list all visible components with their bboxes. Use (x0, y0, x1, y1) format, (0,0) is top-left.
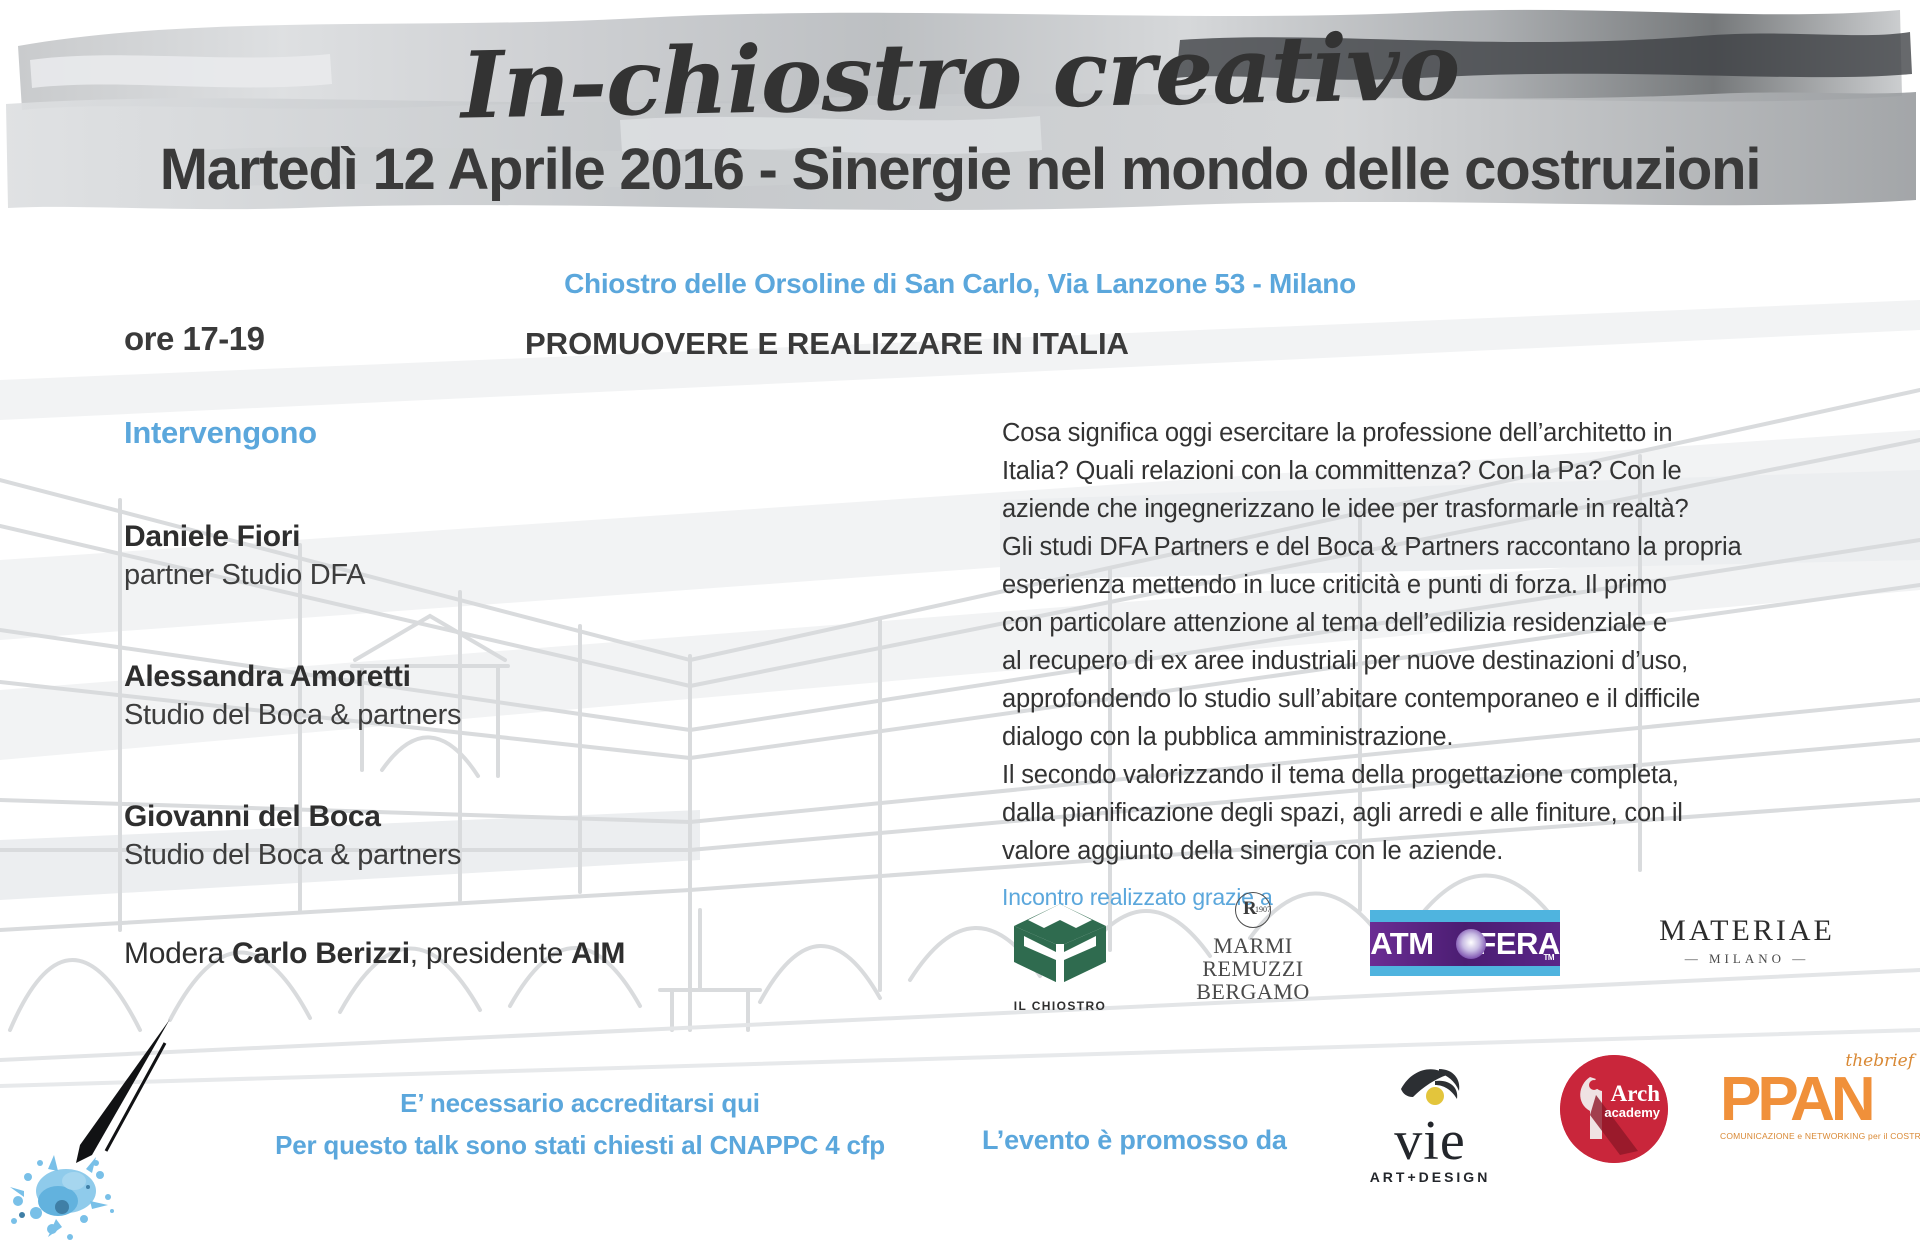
promoter-subline: COMUNICAZIONE e NETWORKING per il COSTRU… (1720, 1131, 1920, 1141)
promoted-by-label: L’evento è promosso da (982, 1125, 1287, 1156)
promoter-logo-vie[interactable]: vie ART+DESIGN (1350, 1063, 1510, 1185)
promoter-logo-row: vie ART+DESIGN Arch academy thebrief PPA… (1350, 1045, 1920, 1205)
description-line: approfondendo lo studio sull’abitare con… (1002, 680, 1842, 718)
promoter-line-1: Arch (1611, 1081, 1660, 1107)
r-roundel-icon: R 1907 (1235, 892, 1271, 928)
wordmark-left: ATM (1370, 926, 1433, 961)
moderator-line: Modera Carlo Berizzi, presidente AIM (124, 937, 844, 971)
promoter-line-2: academy (1604, 1105, 1660, 1120)
cube-icon (1000, 900, 1120, 992)
description-line: Il secondo valorizzando il tema della pr… (1002, 756, 1842, 794)
speaker-affiliation: Studio del Boca & partners (124, 836, 844, 875)
sponsor-logo-il-chiostro[interactable]: IL CHIOSTRO (1000, 900, 1120, 1013)
description-line: aziende che ingegnerizzano le idee per t… (1002, 490, 1842, 528)
speaker-affiliation: Studio del Boca & partners (124, 696, 844, 735)
description-line: Italia? Quali relazioni con la committen… (1002, 452, 1842, 490)
promoter-logo-arch-academy[interactable]: Arch academy (1560, 1055, 1668, 1163)
promoter-subline: ART+DESIGN (1350, 1169, 1510, 1185)
accreditation-block[interactable]: E’ necessario accreditarsi qui Per quest… (170, 1082, 990, 1166)
moderator-name: Carlo Berizzi (232, 937, 410, 970)
trademark-mark: TM (1543, 936, 1554, 980)
description-line: esperienza mettendo in luce criticità e … (1002, 566, 1842, 604)
promoter-wordmark: PPAN (1720, 1071, 1920, 1129)
speaker-entry: Daniele Fiori partner Studio DFA (124, 517, 844, 595)
speaker-name: Alessandra Amoretti (124, 657, 844, 696)
moderator-organisation: AIM (571, 937, 625, 970)
speakers-heading: Intervengono (124, 415, 844, 451)
description-line: valore aggiunto della sinergia con le az… (1002, 832, 1842, 870)
speaker-name: Giovanni del Boca (124, 797, 844, 836)
speaker-entry: Alessandra Amoretti Studio del Boca & pa… (124, 657, 844, 735)
poster-main-title: Martedì 12 Aprile 2016 - Sinergie nel mo… (0, 136, 1920, 203)
roundel-year: 1907 (1255, 905, 1271, 914)
sponsor-line-1: MARMI (1178, 934, 1328, 957)
sphere-icon (1456, 929, 1486, 959)
description-line: Gli studi DFA Partners e del Boca & Part… (1002, 528, 1842, 566)
speakers-panel: Intervengono Daniele Fiori partner Studi… (124, 415, 844, 971)
sponsor-logo-atmosfera[interactable]: ATMOSFERA TM (1370, 910, 1560, 976)
sponsor-logo-marmi-remuzzi[interactable]: R 1907 MARMI REMUZZI BERGAMO (1178, 892, 1328, 1003)
description-line: Cosa significa oggi esercitare la profes… (1002, 414, 1842, 452)
pen-nib-and-ink-splatter (0, 1005, 230, 1248)
leaf-ink-icon (1395, 1063, 1465, 1115)
description-body: Cosa significa oggi esercitare la profes… (1002, 414, 1842, 870)
moderator-middle: , presidente (410, 937, 571, 970)
description-line: dalla pianificazione degli spazi, agli a… (1002, 794, 1842, 832)
pen-nib-icon (76, 1019, 170, 1163)
speaker-name: Daniele Fiori (124, 517, 844, 556)
description-line: al recupero di ex aree industriali per n… (1002, 642, 1842, 680)
accreditation-line-2: Per questo talk sono stati chiesti al CN… (170, 1124, 990, 1166)
poster-venue: Chiostro delle Orsoline di San Carlo, Vi… (0, 268, 1920, 300)
sponsor-wordmark: MATERIAE (1632, 914, 1862, 948)
sponsor-line-2: REMUZZI (1178, 957, 1328, 980)
sponsor-caption: IL CHIOSTRO (1000, 999, 1120, 1013)
sponsor-line-3: BERGAMO (1178, 980, 1328, 1003)
moderator-prefix: Modera (124, 937, 232, 970)
sponsor-subline: — MILANO — (1632, 951, 1862, 967)
description-line: dialogo con la pubblica amministrazione. (1002, 718, 1842, 756)
sponsor-logo-row: IL CHIOSTRO R 1907 MARMI REMUZZI BERGAMO… (1000, 898, 1900, 1018)
promoter-wordmark: vie (1350, 1115, 1510, 1167)
accreditation-line-1[interactable]: E’ necessario accreditarsi qui (170, 1082, 990, 1124)
description-panel: Cosa significa oggi esercitare la profes… (1002, 414, 1842, 911)
description-line: con particolare attenzione al tema dell’… (1002, 604, 1842, 642)
promoter-logo-ppan[interactable]: thebrief PPAN COMUNICAZIONE e NETWORKING… (1720, 1051, 1920, 1141)
sponsor-logo-materiae[interactable]: MATERIAE — MILANO — (1632, 914, 1862, 967)
speaker-affiliation: partner Studio DFA (124, 556, 844, 595)
session-title: PROMUOVERE E REALIZZARE IN ITALIA (525, 326, 1129, 362)
ink-splatter-icon (10, 1155, 114, 1240)
speaker-entry: Giovanni del Boca Studio del Boca & part… (124, 797, 844, 875)
event-hours: ore 17-19 (124, 320, 264, 358)
